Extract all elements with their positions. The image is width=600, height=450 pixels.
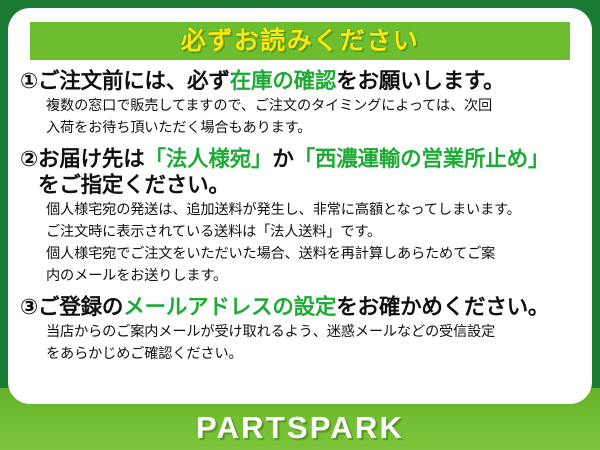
notice-section-1: ①ご注文前には、必ず在庫の確認をお願いします。 複数の窓口で販売してますので、ご… <box>8 68 592 139</box>
section-3-heading-part-1: ご登録の <box>38 295 123 319</box>
section-2-subtext-line-2: ご注文時に表示されている送料は「法人送料」です。 <box>20 222 582 242</box>
notice-banner: 必ずお読みください ①ご注文前には、必ず在庫の確認をお願いします。 複数の窓口で… <box>0 0 600 450</box>
footer-logo-area: PARTSPARK <box>0 404 600 450</box>
section-2-subtext-line-1: 個人様宅宛の発送は、追加送料が発生し、非常に高額となってしまいます。 <box>20 200 582 220</box>
section-1-subtext-line-1: 複数の窓口で販売してますので、ご注文のタイミングによっては、次回 <box>20 96 582 116</box>
section-2-heading: ②お届け先は「法人様宛」か「西濃運輸の営業所止め」 <box>20 146 582 172</box>
section-3-marker: ③ <box>20 295 38 319</box>
section-1-heading-part-1: ご注文前には、必ず <box>38 69 230 93</box>
section-1-subtext-line-2: 入荷をお待ち頂いただく場合もあります。 <box>20 118 582 138</box>
section-1-heading: ①ご注文前には、必ず在庫の確認をお願いします。 <box>20 68 582 94</box>
section-2-heading-highlight-1: 「法人様宛」 <box>145 147 273 171</box>
section-3-subtext-line-1: 当店からのご案内メールが受け取れるよう、迷惑メールなどの受信設定 <box>20 322 582 342</box>
notice-section-2: ②お届け先は「法人様宛」か「西濃運輸の営業所止め」 をご指定ください。 個人様宅… <box>8 146 592 287</box>
section-2-heading-part-1: お届け先は <box>38 147 145 171</box>
section-2-heading-part-3: か <box>272 147 293 171</box>
section-1-marker: ① <box>20 69 38 93</box>
section-3-heading-highlight: メールアドレスの設定 <box>123 295 336 319</box>
section-3-subtext-line-2: をあらかじめご確認ください。 <box>20 344 582 364</box>
notice-body: ①ご注文前には、必ず在庫の確認をお願いします。 複数の窓口で販売してますので、ご… <box>8 68 592 364</box>
section-2-marker: ② <box>20 147 38 171</box>
section-2-heading-highlight-2: 「西濃運輸の営業所止め」 <box>294 147 550 171</box>
section-1-heading-highlight: 在庫の確認 <box>230 69 337 93</box>
section-3-heading-part-3: をお確かめください。 <box>336 295 549 319</box>
content-panel: 必ずお読みください ①ご注文前には、必ず在庫の確認をお願いします。 複数の窓口で… <box>8 8 592 404</box>
section-2-subtext-line-4: 内のメールをお送りします。 <box>20 266 582 286</box>
notice-section-3: ③ご登録のメールアドレスの設定をお確かめください。 当店からのご案内メールが受け… <box>8 294 592 365</box>
section-1-heading-part-3: をお願いします。 <box>336 69 504 93</box>
header-bar: 必ずお読みください <box>30 22 570 60</box>
brand-logo: PARTSPARK <box>196 412 404 443</box>
page-title: 必ずお読みください <box>181 29 420 54</box>
section-3-heading: ③ご登録のメールアドレスの設定をお確かめください。 <box>20 294 582 320</box>
section-2-subtext-line-3: 個人様宅宛でご注文をいただいた場合、送料を再計算しあらためてご案 <box>20 244 582 264</box>
section-2-heading-line-2: をご指定ください。 <box>20 172 582 198</box>
